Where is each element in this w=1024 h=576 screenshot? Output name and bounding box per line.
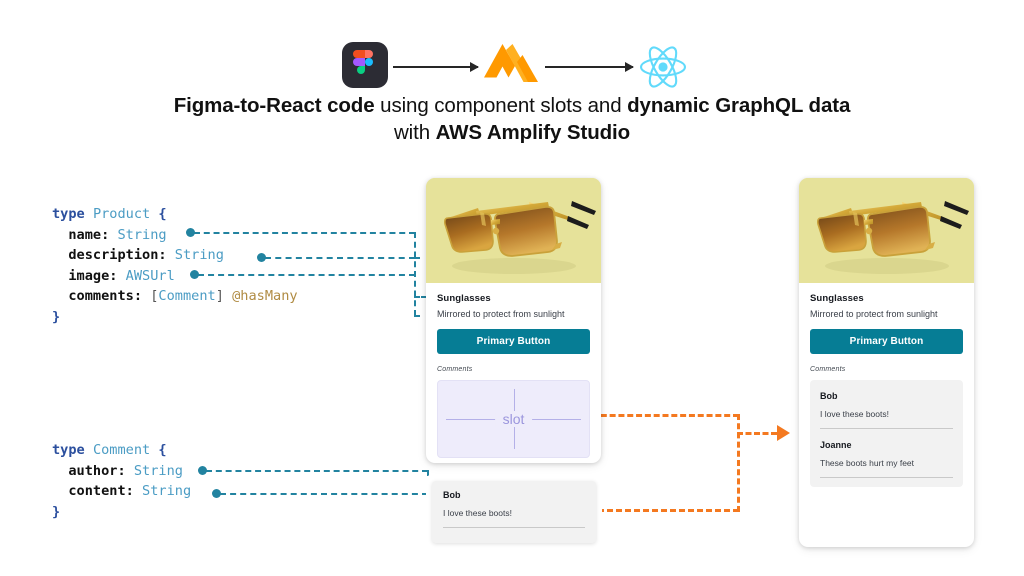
product-title-right: Sunglasses: [810, 293, 963, 304]
comments-label-middle: Comments: [437, 366, 590, 373]
react-logo: [637, 41, 689, 93]
field-content-type: String: [142, 483, 191, 499]
brace-close-comment: }: [52, 504, 60, 520]
sunglasses-illustration-right: [799, 178, 974, 283]
orange-line-from-slot: [592, 414, 739, 417]
product-title-middle: Sunglasses: [437, 293, 590, 304]
brace-open-product: {: [158, 206, 166, 222]
comment-item[interactable]: Bob I love these boots!: [820, 391, 953, 429]
comment-body: These boots hurt my feet: [820, 458, 953, 468]
product-description-middle: Mirrored to protect from sunlight: [437, 309, 590, 319]
comment-spacer: [820, 429, 953, 440]
slot-label: slot: [495, 411, 533, 427]
component-slot-placeholder[interactable]: slot: [437, 380, 590, 458]
amplify-glyph: [482, 38, 540, 94]
product-body-middle: Sunglasses Mirrored to protect from sunl…: [426, 293, 601, 458]
directive-hasmany: @hasMany: [232, 288, 297, 304]
connector-line-author: [206, 470, 428, 472]
connector-trunk-product: [414, 232, 416, 316]
field-name-type: String: [117, 227, 166, 243]
kw-type-comment: type: [52, 442, 85, 458]
sunglasses-illustration: [426, 178, 601, 283]
brace-close-product: }: [52, 309, 60, 325]
comment-card-bob[interactable]: Bob I love these boots!: [432, 481, 596, 543]
connector-line-description: [265, 257, 415, 259]
title-bold-figma-react: Figma-to-React code: [174, 94, 375, 117]
typename-product: Product: [93, 206, 150, 222]
connector-line-content: [220, 493, 428, 495]
page-title: Figma-to-React code using component slot…: [60, 92, 964, 146]
product-image-right: [799, 178, 974, 283]
aws-amplify-logo: [482, 38, 540, 94]
comments-label-right: Comments: [810, 366, 963, 373]
comment-divider: [443, 527, 585, 528]
product-description-right: Mirrored to protect from sunlight: [810, 309, 963, 319]
figma-logo: [342, 42, 388, 88]
figma-glyph: [353, 50, 377, 81]
graphql-schema-product: type Product { name: String description:…: [52, 204, 298, 328]
field-description-key: description:: [68, 247, 166, 263]
field-comments-type: Comment: [158, 288, 215, 304]
graphql-schema-comment: type Comment { author: String content: S…: [52, 440, 191, 522]
title-normal-2: with: [394, 121, 436, 144]
tech-flow-row: [0, 18, 1024, 76]
kw-type-product: type: [52, 206, 85, 222]
field-name-key: name:: [68, 227, 109, 243]
orange-line-from-comment-card: [580, 509, 739, 512]
field-image-type: AWSUrl: [126, 268, 175, 284]
title-bold-amplify-studio: AWS Amplify Studio: [436, 121, 630, 144]
react-glyph: [637, 41, 689, 93]
field-author-type: String: [134, 463, 183, 479]
connector-line-name: [194, 232, 415, 234]
field-comments-key: comments:: [68, 288, 142, 304]
arrow-amplify-to-react-icon: [545, 66, 633, 68]
orange-line-to-card: [737, 432, 777, 435]
product-image-middle: [426, 178, 601, 283]
comment-body: I love these boots!: [820, 409, 953, 419]
bracket-close: ]: [216, 288, 224, 304]
orange-trunk: [737, 414, 740, 512]
comment-body-bob: I love these boots!: [443, 508, 585, 518]
field-description-type: String: [175, 247, 224, 263]
product-card-middle[interactable]: Sunglasses Mirrored to protect from sunl…: [426, 178, 601, 463]
primary-button-middle[interactable]: Primary Button: [437, 329, 590, 354]
field-image-key: image:: [68, 268, 117, 284]
primary-button-right[interactable]: Primary Button: [810, 329, 963, 354]
comment-author: Joanne: [820, 440, 953, 450]
arrow-figma-to-amplify-icon: [393, 66, 478, 68]
title-normal-1: using component slots and: [375, 94, 628, 117]
typename-comment: Comment: [93, 442, 150, 458]
comment-divider: [820, 477, 953, 478]
comment-author: Bob: [820, 391, 953, 401]
field-content-key: content:: [68, 483, 133, 499]
brace-open-comment: {: [158, 442, 166, 458]
comment-list-right: Bob I love these boots! Joanne These boo…: [810, 380, 963, 487]
product-card-right[interactable]: Sunglasses Mirrored to protect from sunl…: [799, 178, 974, 547]
slide-canvas: Figma-to-React code using component slot…: [0, 0, 1024, 576]
comment-item[interactable]: Joanne These boots hurt my feet: [820, 440, 953, 478]
comment-author-bob: Bob: [443, 490, 585, 500]
connector-line-image: [198, 274, 415, 276]
orange-arrow-head-icon: [777, 425, 790, 441]
product-body-right: Sunglasses Mirrored to protect from sunl…: [799, 293, 974, 487]
title-bold-graphql: dynamic GraphQL data: [627, 94, 850, 117]
field-author-key: author:: [68, 463, 125, 479]
